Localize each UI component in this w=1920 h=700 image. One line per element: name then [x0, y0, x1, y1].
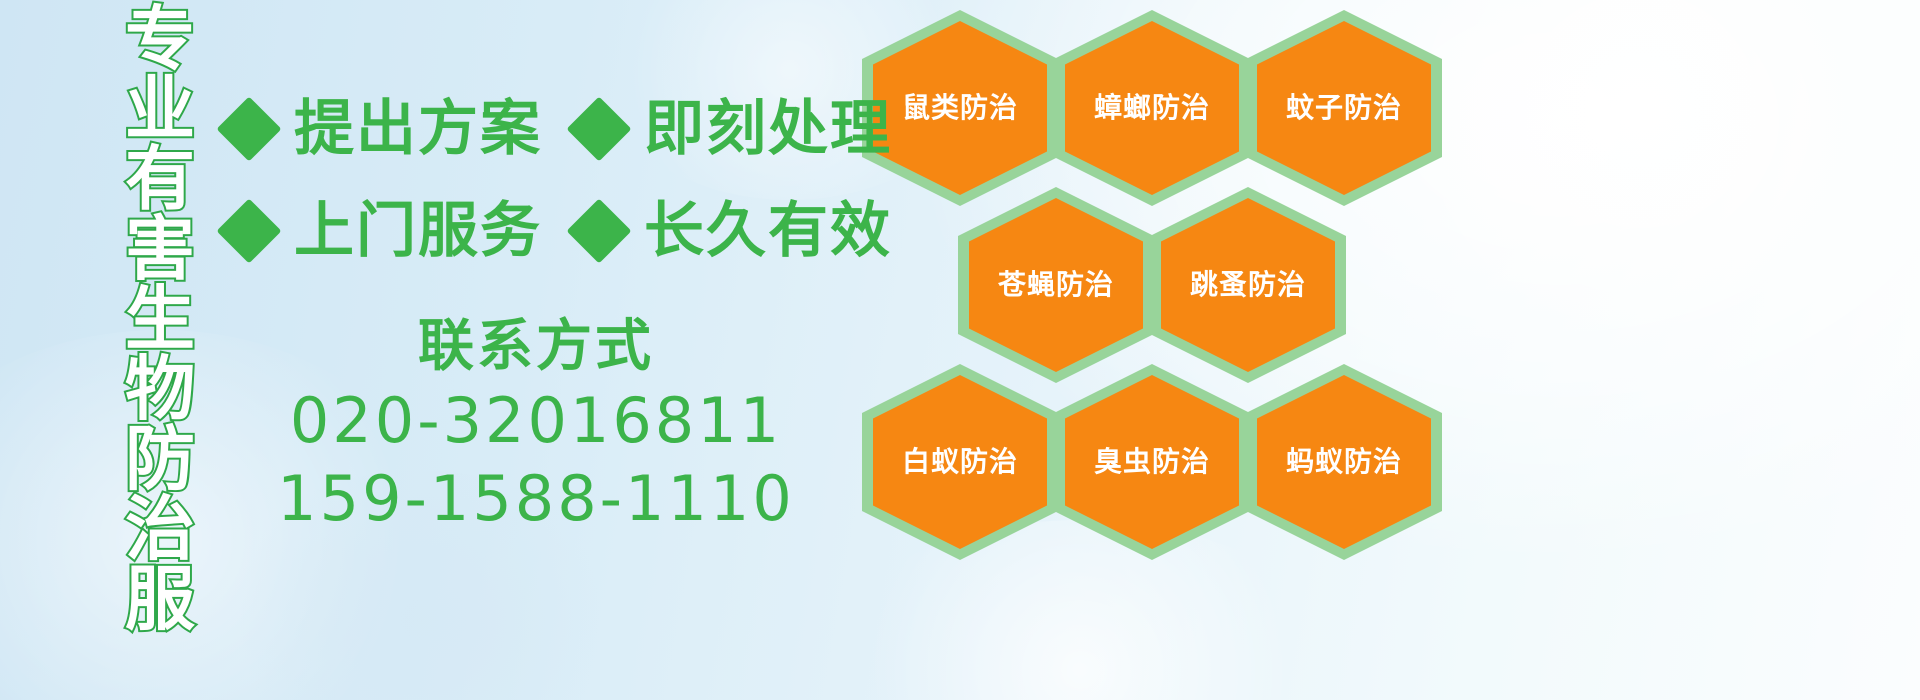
feature-item: 即刻处理 [576, 99, 892, 159]
contact-phone-landline[interactable]: 020-32016811 [290, 382, 782, 460]
headline-char: 治 [125, 494, 195, 564]
feature-list: 提出方案 即刻处理 上门服务 长久有效 [226, 78, 892, 282]
headline-char: 服 [125, 564, 195, 634]
hex-service-mosquito[interactable]: 蚊子防治 [1246, 10, 1442, 206]
hex-label: 蚊子防治 [1286, 94, 1402, 122]
hex-service-cockroach[interactable]: 蟑螂防治 [1054, 10, 1250, 206]
feature-row: 提出方案 即刻处理 [226, 78, 892, 180]
feature-item: 提出方案 [226, 99, 542, 159]
feature-row: 上门服务 长久有效 [226, 180, 892, 282]
hex-service-bedbug[interactable]: 臭虫防治 [1054, 364, 1250, 560]
headline-char: 专 [125, 4, 195, 74]
hex-label: 蟑螂防治 [1094, 94, 1210, 122]
vertical-headline: 专 业 有 害 生 物 防 治 服 [108, 4, 212, 568]
feature-item: 长久有效 [576, 201, 892, 261]
diamond-bullet-icon [566, 96, 631, 161]
hex-label: 白蚁防治 [902, 448, 1018, 476]
feature-label: 即刻处理 [644, 99, 892, 159]
feature-label: 提出方案 [294, 99, 542, 159]
contact-phone-mobile[interactable]: 159-1588-1110 [277, 460, 795, 538]
hex-service-flea[interactable]: 跳蚤防治 [1150, 187, 1346, 383]
background-glow-top-right [1380, 0, 1900, 340]
hex-service-ant[interactable]: 蚂蚁防治 [1246, 364, 1442, 560]
hex-service-termite[interactable]: 白蚁防治 [862, 364, 1058, 560]
feature-item: 上门服务 [226, 201, 542, 261]
headline-char: 物 [125, 354, 195, 424]
headline-char: 害 [125, 214, 195, 284]
hex-label: 蚂蚁防治 [1286, 448, 1402, 476]
diamond-bullet-icon [216, 96, 281, 161]
service-honeycomb-grid: 鼠类防治 蟑螂防治 蚊子防治 苍蝇防治 跳蚤防治 [862, 2, 1442, 558]
hex-label: 鼠类防治 [902, 94, 1018, 122]
hex-service-fly[interactable]: 苍蝇防治 [958, 187, 1154, 383]
headline-char: 业 [125, 74, 195, 144]
hex-label: 臭虫防治 [1094, 448, 1210, 476]
feature-label: 上门服务 [294, 201, 542, 261]
diamond-bullet-icon [566, 198, 631, 263]
diamond-bullet-icon [216, 198, 281, 263]
hex-label: 跳蚤防治 [1190, 271, 1306, 299]
hex-label: 苍蝇防治 [998, 271, 1114, 299]
feature-label: 长久有效 [644, 201, 892, 261]
headline-char: 生 [125, 284, 195, 354]
contact-block: 联系方式 020-32016811 159-1588-1110 [226, 312, 846, 538]
contact-title: 联系方式 [418, 312, 654, 382]
pest-control-banner: 专 业 有 害 生 物 防 治 服 提出方案 即刻处理 上门服务 [0, 0, 1920, 700]
headline-char: 有 [125, 144, 195, 214]
headline-char: 防 [125, 424, 195, 494]
